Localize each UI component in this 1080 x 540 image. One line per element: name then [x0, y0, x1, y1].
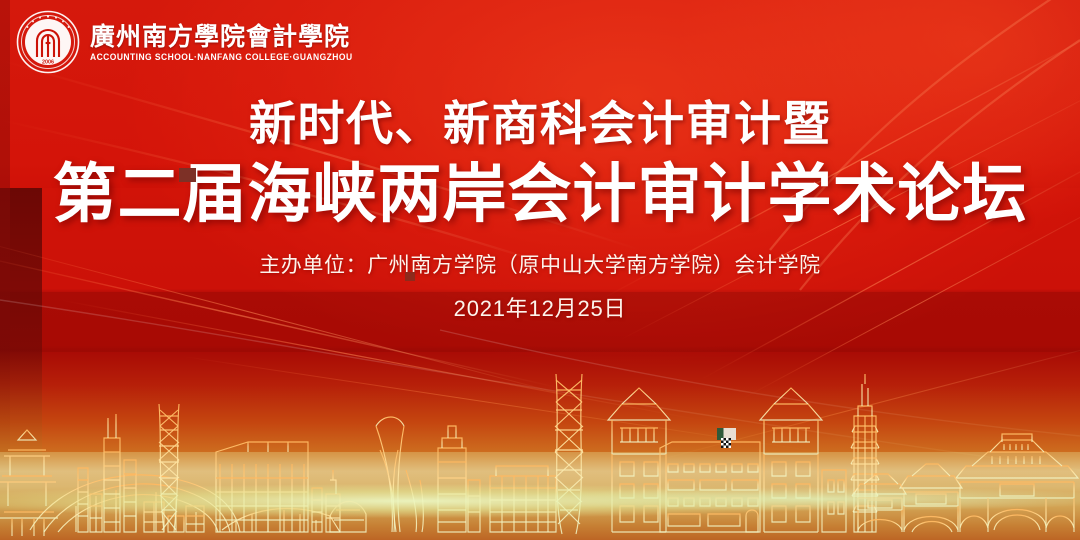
- title-group: 新时代、新商科会计审计暨 第二届海峡两岸会计审计学术论坛 主办单位：广州南方学院…: [0, 96, 1080, 323]
- image-artifact: [405, 272, 415, 281]
- forum-title-line2: 第二届海峡两岸会计审计学术论坛: [0, 157, 1080, 233]
- horizon-light-glow-right: [500, 486, 1080, 512]
- crest-year: 2006: [42, 60, 54, 66]
- landmark-pagoda: [0, 430, 58, 536]
- forum-title-line1: 新时代、新商科会计审计暨: [0, 96, 1080, 151]
- school-logo-text: 廣州南方學院會計學院 ACCOUNTING SCHOOL·NANFANG COL…: [90, 23, 353, 62]
- image-artifact: [179, 168, 196, 182]
- banner-stage: 2006 廣州南方學院會計學院 ACCOUNTING SCHOOL·NANFAN…: [0, 0, 1080, 540]
- forum-date: 2021年12月25日: [0, 291, 1080, 323]
- image-artifact: [721, 438, 731, 448]
- school-logo: 2006 廣州南方學院會計學院 ACCOUNTING SCHOOL·NANFAN…: [16, 10, 353, 74]
- school-name-en: ACCOUNTING SCHOOL·NANFANG COLLEGE·GUANGZ…: [90, 52, 353, 61]
- school-crest-icon: 2006: [16, 10, 80, 74]
- forum-organizer: 主办单位：广州南方学院（原中山大学南方学院）会计学院: [0, 249, 1080, 279]
- school-name-cn: 廣州南方學院會計學院: [90, 25, 353, 50]
